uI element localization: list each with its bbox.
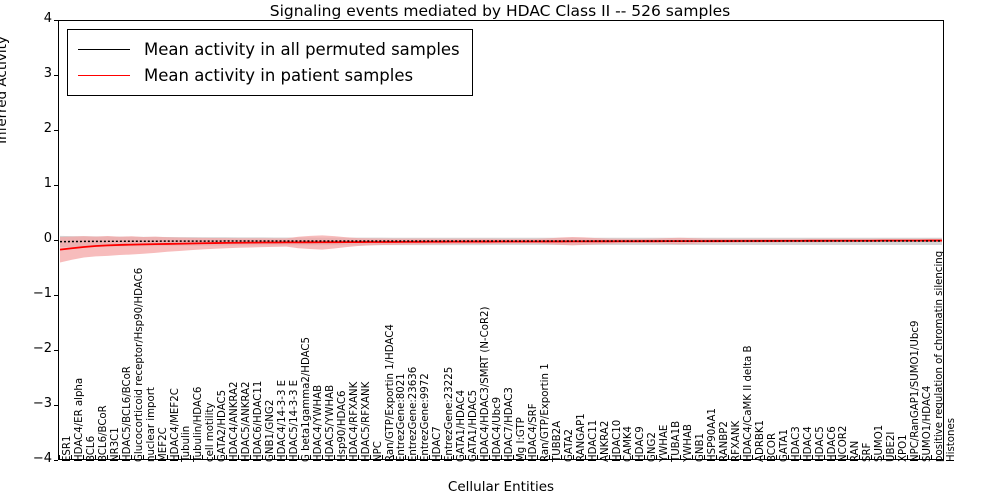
x-axis-label: Cellular Entities: [58, 479, 944, 495]
x-tick-label: HDAC5/YWHAB: [326, 385, 336, 462]
x-tick-label: HDAC5/ANKRA2: [242, 381, 252, 462]
x-tick-mark: [573, 455, 574, 460]
x-tick-mark: [549, 455, 550, 460]
x-tick-label: Tubulin/HDAC6: [194, 387, 204, 462]
x-tick-label: HDAC5/14-3-3 E: [290, 380, 300, 462]
x-tick-mark: [441, 455, 442, 460]
x-tick-label: Ran/GTP/Exportin 1: [541, 363, 551, 462]
x-tick-label: HSP90AA1: [708, 408, 718, 462]
legend-label-permuted: Mean activity in all permuted samples: [144, 40, 460, 59]
x-tick-mark: [859, 455, 860, 460]
x-tick-mark: [310, 455, 311, 460]
x-tick-label: EntrezGene:9972: [421, 373, 431, 462]
x-tick-label: HDAC4/MEF2C: [171, 388, 181, 462]
x-tick-mark: [883, 455, 884, 460]
legend-label-patient: Mean activity in patient samples: [144, 66, 413, 85]
y-tick-label: 2: [12, 121, 52, 136]
x-tick-mark: [800, 455, 801, 460]
x-tick-mark: [250, 455, 251, 460]
x-tick-mark: [871, 455, 872, 460]
x-tick-mark: [95, 455, 96, 460]
x-tick-mark: [752, 455, 753, 460]
x-tick-mark: [358, 455, 359, 460]
x-tick-mark: [668, 455, 669, 460]
x-tick-mark: [907, 455, 908, 460]
x-tick-label: EntrezGene:23636: [409, 367, 419, 462]
x-tick-mark: [370, 455, 371, 460]
x-tick-mark: [525, 455, 526, 460]
x-tick-mark: [477, 455, 478, 460]
x-tick-mark: [214, 455, 215, 460]
x-tick-mark: [609, 455, 610, 460]
x-tick-label: HDAC6/HDAC11: [254, 381, 264, 462]
x-tick-mark: [919, 455, 920, 460]
x-tick-label: HDAC4/14-3-3 E: [278, 380, 288, 462]
y-tick-label: 1: [12, 176, 52, 191]
x-tick-mark: [465, 455, 466, 460]
x-tick-mark: [824, 455, 825, 460]
x-tick-label: HDAC4/SRF: [529, 403, 539, 462]
legend-swatch-permuted: [78, 49, 130, 50]
x-tick-label: HDAC4/YWHAB: [314, 385, 324, 462]
x-tick-mark: [298, 455, 299, 460]
x-tick-mark: [274, 455, 275, 460]
x-tick-mark: [943, 455, 944, 460]
x-tick-mark: [238, 455, 239, 460]
x-tick-mark: [107, 455, 108, 460]
x-tick-mark: [346, 455, 347, 460]
x-tick-mark: [178, 455, 179, 460]
x-tick-mark: [537, 455, 538, 460]
x-tick-mark: [334, 455, 335, 460]
x-tick-mark: [680, 455, 681, 460]
x-tick-label: HDAC4/CaMK II delta B: [744, 346, 754, 462]
x-tick-mark: [716, 455, 717, 460]
x-tick-mark: [322, 455, 323, 460]
legend-swatch-patient: [78, 75, 130, 76]
x-tick-mark: [167, 455, 168, 460]
x-tick-label: HDAC4/ER alpha: [75, 378, 85, 462]
x-tick-mark: [59, 455, 60, 460]
x-tick-label: HDAC7/HDAC3: [505, 387, 515, 462]
x-tick-label: SUMO1/HDAC4: [923, 386, 933, 462]
x-tick-mark: [561, 455, 562, 460]
x-tick-mark: [119, 455, 120, 460]
legend-item-permuted: Mean activity in all permuted samples: [78, 36, 460, 62]
x-tick-mark: [585, 455, 586, 460]
x-tick-label: cell motility: [206, 403, 216, 462]
chart-figure: Signaling events mediated by HDAC Class …: [0, 0, 1000, 500]
x-tick-label: Ran/GTP/Exportin 1/HDAC4: [386, 324, 396, 462]
x-tick-mark: [202, 455, 203, 460]
x-tick-mark: [704, 455, 705, 460]
x-tick-mark: [513, 455, 514, 460]
x-tick-label: EntrezGene:23225: [445, 367, 455, 462]
y-tick-label: −2: [12, 341, 52, 356]
x-tick-mark: [644, 455, 645, 460]
x-tick-label: Hsp90/HDAC6: [338, 390, 348, 462]
x-tick-mark: [262, 455, 263, 460]
x-tick-mark: [143, 455, 144, 460]
plot-area: Mean activity in all permuted samples Me…: [58, 20, 944, 460]
x-tick-mark: [417, 455, 418, 460]
x-tick-mark: [931, 455, 932, 460]
x-tick-label: G beta1gamma2/HDAC5: [302, 337, 312, 462]
x-tick-mark: [740, 455, 741, 460]
x-tick-mark: [764, 455, 765, 460]
x-tick-label: GATA2/HDAC5: [218, 390, 228, 462]
x-tick-mark: [382, 455, 383, 460]
x-tick-mark: [155, 455, 156, 460]
x-tick-mark: [632, 455, 633, 460]
x-tick-label: GATA1/HDAC5: [469, 390, 479, 462]
y-tick-label: 4: [12, 11, 52, 26]
x-tick-label: Glucocorticoid receptor/Hsp90/HDAC6: [135, 268, 145, 462]
y-tick-label: 3: [12, 66, 52, 81]
y-tick-label: −1: [12, 286, 52, 301]
x-tick-mark: [620, 455, 621, 460]
x-tick-mark: [501, 455, 502, 460]
x-tick-label: BCL6/BCoR: [99, 405, 109, 462]
x-tick-label: HDAC4/RFXANK: [350, 382, 360, 462]
x-tick-mark: [776, 455, 777, 460]
x-tick-mark: [489, 455, 490, 460]
x-tick-mark: [847, 455, 848, 460]
y-tick-label: −3: [12, 396, 52, 411]
x-tick-mark: [226, 455, 227, 460]
x-tick-mark: [812, 455, 813, 460]
chart-title: Signaling events mediated by HDAC Class …: [0, 2, 1000, 20]
x-tick-label: HDAC4/ANKRA2: [230, 381, 240, 462]
x-tick-mark: [895, 455, 896, 460]
legend-item-patient: Mean activity in patient samples: [78, 62, 460, 88]
x-tick-label: HDAC5/BCL6/BCoR: [123, 366, 133, 462]
x-tick-label: EntrezGene:8021: [397, 373, 407, 462]
x-tick-label: Histones: [947, 418, 957, 462]
x-tick-label: positive regulation of chromatin silenci…: [935, 251, 945, 462]
y-tick-label: 0: [12, 231, 52, 246]
x-tick-mark: [393, 455, 394, 460]
x-tick-label: NPC/RanGAP1/SUMO1/Ubc9: [911, 321, 921, 462]
x-tick-label: GATA1/HDAC4: [457, 390, 467, 462]
y-axis-label: Inferred Activity: [0, 10, 10, 170]
x-tick-mark: [597, 455, 598, 460]
x-tick-mark: [190, 455, 191, 460]
x-tick-label: HDAC5/RFXANK: [362, 382, 372, 462]
x-tick-mark: [788, 455, 789, 460]
x-tick-mark: [286, 455, 287, 460]
y-tick-mark: [54, 460, 58, 461]
x-tick-mark: [131, 455, 132, 460]
chart-legend: Mean activity in all permuted samples Me…: [67, 29, 473, 96]
patient-confidence-band: [60, 235, 942, 262]
x-tick-mark: [835, 455, 836, 460]
x-tick-mark: [429, 455, 430, 460]
x-tick-mark: [692, 455, 693, 460]
x-tick-label: nuclear import: [147, 387, 157, 462]
x-tick-label: HDAC4/Ubc9: [493, 397, 503, 462]
x-tick-mark: [656, 455, 657, 460]
x-tick-label: HDAC4/HDAC3/SMRT (N-CoR2): [481, 307, 491, 463]
x-tick-mark: [453, 455, 454, 460]
x-tick-mark: [405, 455, 406, 460]
x-tick-mark: [83, 455, 84, 460]
x-tick-mark: [728, 455, 729, 460]
x-tick-label: GNB1/GNG2: [266, 400, 276, 462]
x-tick-mark: [71, 455, 72, 460]
y-tick-label: −4: [12, 451, 52, 466]
